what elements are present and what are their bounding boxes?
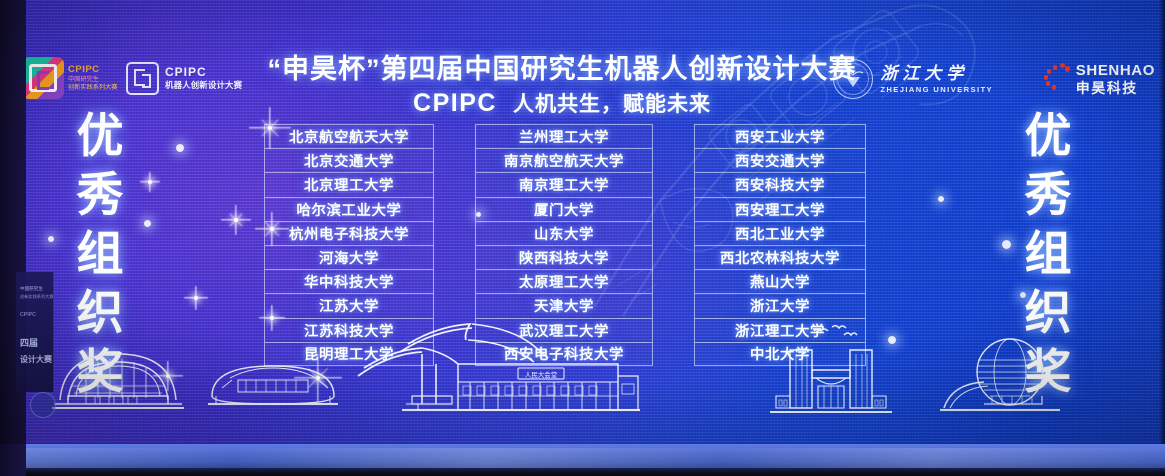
award-char: 奖 xyxy=(77,348,124,395)
subtitle-slogan: 人机共生，赋能未来 xyxy=(513,88,711,118)
university-cell: 北京交通大学 xyxy=(264,148,434,172)
university-list-table: 北京航空航天大学 北京交通大学 北京理工大学 哈尔滨工业大学 杭州电子科技大学 … xyxy=(264,124,866,366)
cpipc-color-logo-line2: 创新实践系列大赛 xyxy=(68,85,118,91)
stage-screen-photo: CPIPC 中国研究生 创新实践系列大赛 CPIPC 机器人创新设计大赛 浙江大… xyxy=(0,0,1165,476)
banner-line-4: 四届 xyxy=(20,336,38,349)
university-cell: 西安科技大学 xyxy=(694,172,866,196)
event-subtitle: CPIPC 人机共生，赋能未来 xyxy=(232,88,892,118)
university-cell: 南京理工大学 xyxy=(475,172,653,196)
subtitle-acronym: CPIPC xyxy=(413,89,497,118)
award-title-right: 优 秀 组 织 奖 xyxy=(1012,112,1084,395)
university-cell: 西安理工大学 xyxy=(694,197,866,221)
university-cell: 陕西科技大学 xyxy=(475,245,653,269)
left-stage-edge xyxy=(0,0,26,476)
shenhao-swoosh-icon xyxy=(1042,62,1072,96)
university-cell: 太原理工大学 xyxy=(475,269,653,293)
award-char: 秀 xyxy=(77,171,124,218)
university-cell: 浙江理工大学 xyxy=(694,318,866,342)
award-title-left: 优 秀 组 织 奖 xyxy=(64,112,136,395)
university-cell: 河海大学 xyxy=(264,245,434,269)
award-char: 优 xyxy=(77,112,124,159)
university-cell: 山东大学 xyxy=(475,221,653,245)
shenhao-name-cn: 申昊科技 xyxy=(1076,81,1155,95)
cpipc-outline-logo-acronym: CPIPC xyxy=(165,66,242,78)
banner-line-1: 中国研究生 xyxy=(20,286,43,292)
university-cell: 浙江大学 xyxy=(694,293,866,317)
banner-line-2: 创新实践系列大赛 xyxy=(20,294,54,300)
cpipc-outline-logo: CPIPC 机器人创新设计大赛 xyxy=(126,56,238,100)
university-cell: 江苏科技大学 xyxy=(264,318,434,342)
university-cell: 北京理工大学 xyxy=(264,172,434,196)
university-cell: 昆明理工大学 xyxy=(264,342,434,366)
shenhao-logo: SHENHAO 申昊科技 xyxy=(1042,54,1155,104)
university-cell: 西安工业大学 xyxy=(694,124,866,148)
award-char: 组 xyxy=(77,230,124,277)
award-char: 织 xyxy=(1025,289,1072,336)
award-char: 秀 xyxy=(1025,171,1072,218)
university-cell: 厦门大学 xyxy=(475,197,653,221)
zju-name-en: ZHEJIANG UNIVERSITY xyxy=(880,86,993,94)
university-cell: 江苏大学 xyxy=(264,293,434,317)
banner-line-5: 设计大赛 xyxy=(20,354,52,365)
award-char: 优 xyxy=(1025,112,1072,159)
university-cell: 西北工业大学 xyxy=(694,221,866,245)
banner-line-3: CPIPC xyxy=(20,312,36,318)
award-char: 奖 xyxy=(1025,348,1072,395)
university-cell: 兰州理工大学 xyxy=(475,124,653,148)
university-cell: 西北农林科技大学 xyxy=(694,245,866,269)
shenhao-name-en: SHENHAO xyxy=(1076,63,1155,78)
university-cell: 哈尔滨工业大学 xyxy=(264,197,434,221)
cpipc-color-logo-acronym: CPIPC xyxy=(68,65,118,75)
award-char: 织 xyxy=(77,289,124,336)
university-column-1: 北京航空航天大学 北京交通大学 北京理工大学 哈尔滨工业大学 杭州电子科技大学 … xyxy=(264,124,434,366)
cpipc-pinwheel-icon xyxy=(22,57,64,99)
cpipc-outline-logo-subtitle: 机器人创新设计大赛 xyxy=(165,81,242,89)
university-cell: 武汉理工大学 xyxy=(475,318,653,342)
university-cell: 西安电子科技大学 xyxy=(475,342,653,366)
cpipc-outline-mark-icon xyxy=(126,62,159,95)
university-cell: 天津大学 xyxy=(475,293,653,317)
right-stage-edge xyxy=(1159,0,1165,444)
university-cell: 燕山大学 xyxy=(694,269,866,293)
university-cell: 华中科技大学 xyxy=(264,269,434,293)
university-column-2: 兰州理工大学 南京航空航天大学 南京理工大学 厦门大学 山东大学 陕西科技大学 … xyxy=(475,124,653,366)
university-cell: 杭州电子科技大学 xyxy=(264,221,434,245)
cpipc-color-logo: CPIPC 中国研究生 创新实践系列大赛 xyxy=(22,54,118,102)
university-cell: 北京航空航天大学 xyxy=(264,124,434,148)
zju-name-cn: 浙江大学 xyxy=(880,65,993,82)
left-side-banner: 中国研究生 创新实践系列大赛 CPIPC 四届 设计大赛 xyxy=(16,272,54,392)
university-column-3: 西安工业大学 西安交通大学 西安科技大学 西安理工大学 西北工业大学 西北农林科… xyxy=(694,124,866,366)
cpipc-color-logo-line1: 中国研究生 xyxy=(68,77,118,83)
left-banner-seal-icon xyxy=(30,392,56,418)
university-cell: 西安交通大学 xyxy=(694,148,866,172)
award-char: 组 xyxy=(1025,230,1072,277)
stage-floor xyxy=(0,444,1165,476)
university-cell: 南京航空航天大学 xyxy=(475,148,653,172)
event-main-title: “申昊杯”第四届中国研究生机器人创新设计大赛 xyxy=(232,46,892,86)
university-cell: 中北大学 xyxy=(694,342,866,366)
